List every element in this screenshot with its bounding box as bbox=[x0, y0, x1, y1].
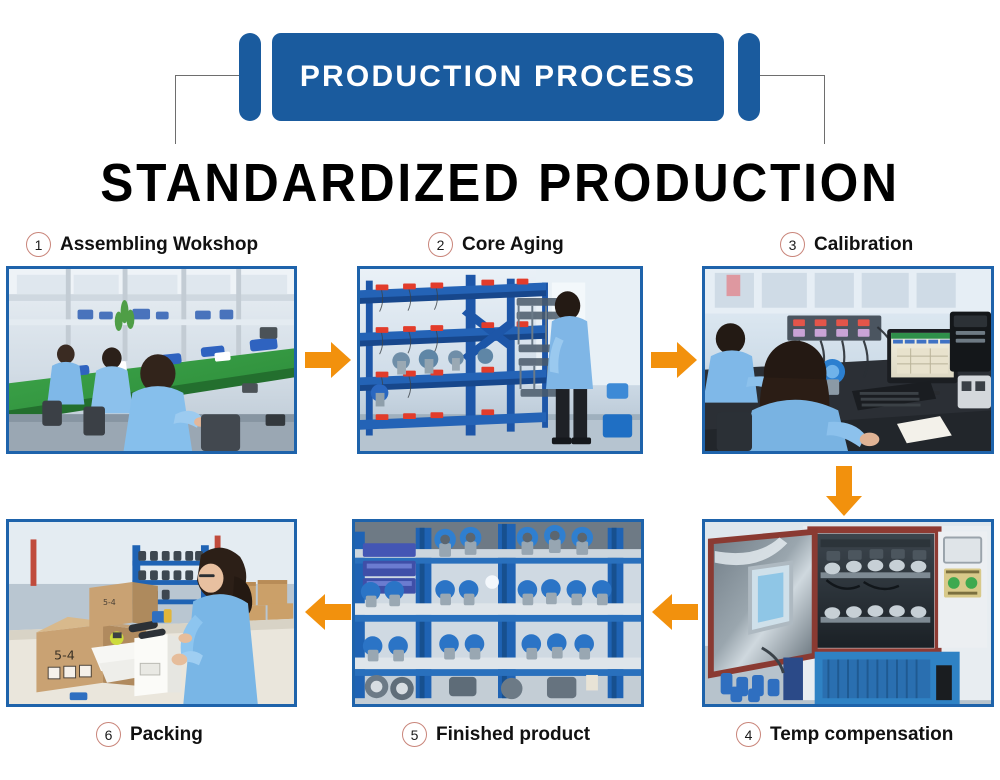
arrow-left-icon-1 bbox=[652, 592, 698, 632]
step-text-4: Temp compensation bbox=[770, 724, 953, 746]
photo-finished-product bbox=[355, 522, 641, 704]
panel-core-aging bbox=[357, 266, 643, 454]
banner-pill-right bbox=[738, 33, 760, 121]
step-text-6: Packing bbox=[130, 724, 203, 746]
arrow-right-icon-2 bbox=[651, 340, 697, 380]
step-label-2: 2 Core Aging bbox=[428, 232, 564, 257]
step-label-1: 1 Assembling Wokshop bbox=[26, 232, 258, 257]
panel-calibration bbox=[702, 266, 994, 454]
step-number-2: 2 bbox=[428, 232, 453, 257]
photo-packing: 5-4 5-4 bbox=[9, 522, 294, 704]
photo-core-aging bbox=[360, 269, 640, 451]
arrow-right-icon-1 bbox=[305, 340, 351, 380]
step-number-6: 6 bbox=[96, 722, 121, 747]
step-label-4: 4 Temp compensation bbox=[736, 722, 953, 747]
step-label-3: 3 Calibration bbox=[780, 232, 913, 257]
step-text-5: Finished product bbox=[436, 724, 590, 746]
photo-temp-compensation bbox=[705, 522, 991, 704]
step-number-5: 5 bbox=[402, 722, 427, 747]
panel-temp-compensation bbox=[702, 519, 994, 707]
banner-box: PRODUCTION PROCESS bbox=[272, 33, 724, 121]
step-text-2: Core Aging bbox=[462, 234, 564, 256]
step-text-3: Calibration bbox=[814, 234, 913, 256]
step-text-1: Assembling Wokshop bbox=[60, 234, 258, 256]
banner-title: PRODUCTION PROCESS bbox=[300, 60, 696, 94]
step-number-3: 3 bbox=[780, 232, 805, 257]
packing-box-label-small: 5-4 bbox=[103, 598, 116, 607]
banner-area: PRODUCTION PROCESS bbox=[0, 0, 1000, 150]
photo-assembling-workshop bbox=[9, 269, 294, 451]
panel-finished-product bbox=[352, 519, 644, 707]
packing-box-label-large: 5-4 bbox=[54, 648, 75, 663]
banner-pill-left bbox=[239, 33, 261, 121]
bracket-line-right bbox=[752, 75, 825, 144]
step-label-6: 6 Packing bbox=[96, 722, 203, 747]
panel-assembling-workshop bbox=[6, 266, 297, 454]
arrow-down-icon bbox=[824, 466, 864, 516]
bracket-line-left bbox=[175, 75, 248, 144]
step-label-5: 5 Finished product bbox=[402, 722, 590, 747]
photo-calibration bbox=[705, 269, 991, 451]
step-number-4: 4 bbox=[736, 722, 761, 747]
panel-packing: 5-4 5-4 bbox=[6, 519, 297, 707]
arrow-left-icon-2 bbox=[305, 592, 351, 632]
step-number-1: 1 bbox=[26, 232, 51, 257]
page-title: STANDARDIZED PRODUCTION bbox=[40, 152, 960, 214]
